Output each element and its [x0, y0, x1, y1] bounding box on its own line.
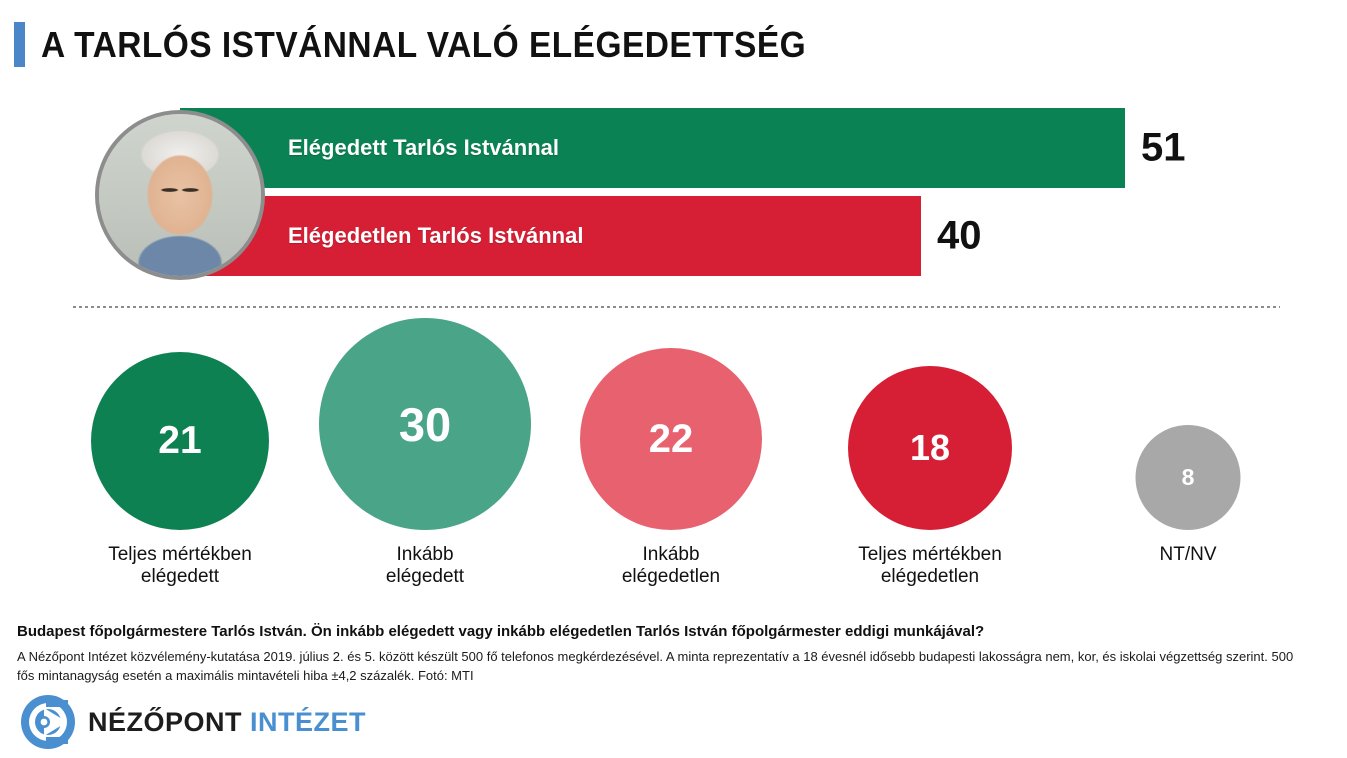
bubble-circle: 8: [1136, 425, 1241, 530]
bubble-value: 22: [649, 417, 694, 462]
portrait-photo: [99, 114, 261, 276]
avatar: [95, 110, 265, 280]
bubble-item: 8NT/NV: [1063, 330, 1313, 566]
bubble-caption: Inkább elégedetlen: [546, 544, 796, 589]
footnote-method: A Nézőpont Intézet közvélemény-kutatása …: [17, 648, 1307, 686]
bubble-circle: 22: [580, 348, 762, 530]
title-accent-bar: [14, 22, 25, 67]
bar-satisfied: Elégedett Tarlós Istvánnal: [180, 108, 1125, 188]
footnote-question: Budapest főpolgármestere Tarlós István. …: [17, 623, 984, 640]
brand-logo: NÉZŐPONT INTÉZET: [20, 694, 366, 750]
bubble-area: 22: [546, 330, 796, 530]
page-title-text: A TARLÓS ISTVÁNNAL VALÓ ELÉGEDETTSÉG: [41, 24, 806, 66]
bubble-area: 21: [55, 330, 305, 530]
page-title: A TARLÓS ISTVÁNNAL VALÓ ELÉGEDETTSÉG: [14, 22, 864, 67]
bubble-circle: 18: [848, 366, 1012, 530]
bar-value-satisfied: 51: [1141, 126, 1186, 171]
bar-dissatisfied: Elégedetlen Tarlós Istvánnal: [180, 196, 921, 276]
bubble-value: 18: [910, 427, 950, 469]
bubble-value: 21: [158, 419, 201, 463]
breakdown-bubble-chart: 21Teljes mértékben elégedett30Inkább elé…: [0, 330, 1347, 600]
bubble-caption: Teljes mértékben elégedett: [55, 544, 305, 589]
bubble-circle: 30: [319, 318, 531, 530]
brand-word-secondary: INTÉZET: [250, 707, 366, 737]
bubble-area: 18: [805, 330, 1055, 530]
bubble-area: 30: [300, 330, 550, 530]
infographic-root: A TARLÓS ISTVÁNNAL VALÓ ELÉGEDETTSÉG Elé…: [0, 0, 1347, 758]
bubble-item: 30Inkább elégedett: [300, 330, 550, 589]
bubble-caption: Teljes mértékben elégedetlen: [805, 544, 1055, 589]
brand-word-primary: NÉZŐPONT: [88, 707, 242, 737]
bubble-caption: Inkább elégedett: [300, 544, 550, 589]
bubble-item: 18Teljes mértékben elégedetlen: [805, 330, 1055, 589]
bar-value-dissatisfied: 40: [937, 214, 982, 259]
bubble-area: 8: [1063, 330, 1313, 530]
bubble-item: 22Inkább elégedetlen: [546, 330, 796, 589]
bubble-item: 21Teljes mértékben elégedett: [55, 330, 305, 589]
bubble-circle: 21: [91, 352, 269, 530]
brand-logo-text: NÉZŐPONT INTÉZET: [88, 707, 366, 738]
bubble-value: 30: [399, 397, 451, 452]
bar-label-satisfied: Elégedett Tarlós Istvánnal: [288, 135, 559, 161]
bubble-caption: NT/NV: [1063, 544, 1313, 566]
section-divider: [73, 306, 1280, 308]
bar-label-dissatisfied: Elégedetlen Tarlós Istvánnal: [288, 223, 583, 249]
bubble-value: 8: [1182, 464, 1195, 491]
eye-target-icon: [20, 694, 76, 750]
